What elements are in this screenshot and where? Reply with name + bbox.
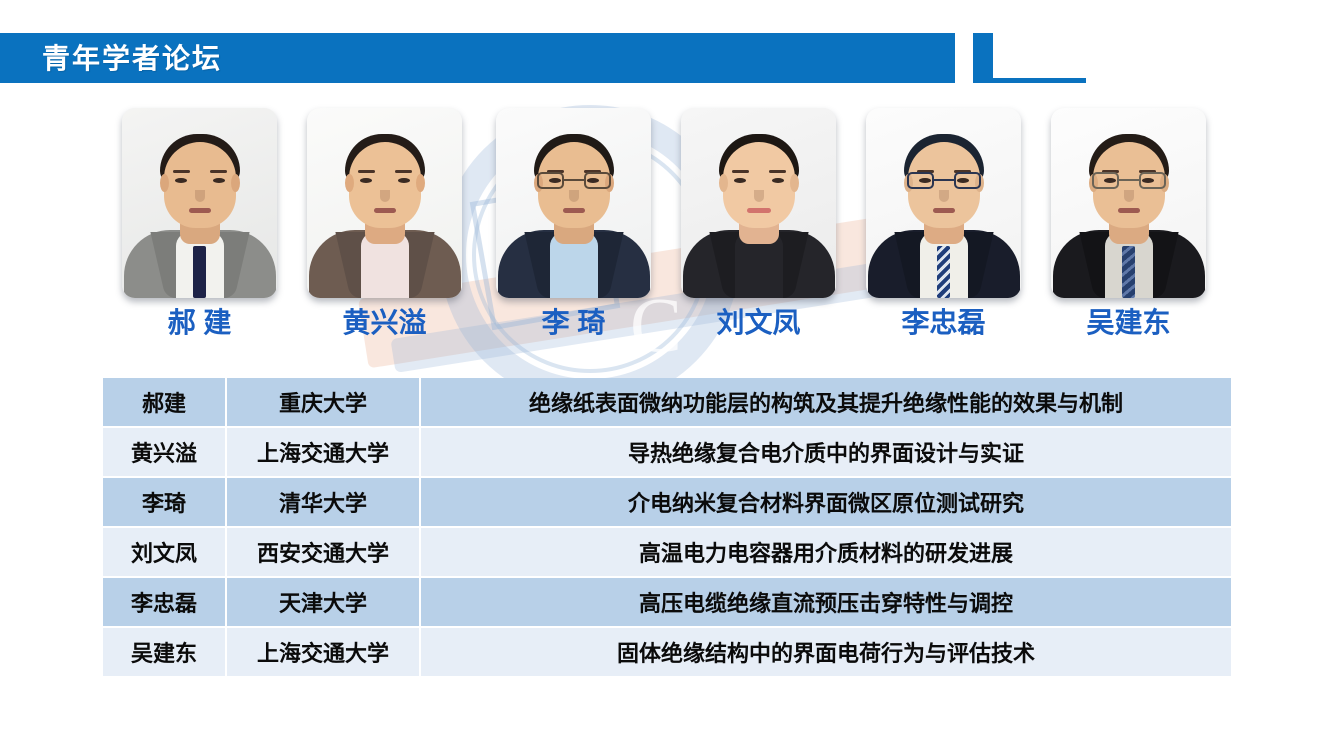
- glasses-icon: [536, 172, 612, 190]
- cell-speaker-name: 李琦: [103, 478, 225, 526]
- table-row[interactable]: 黄兴溢 上海交通大学 导热绝缘复合电介质中的界面设计与实证: [103, 428, 1231, 476]
- speaker-portrait-row: 郝 建 黄兴溢: [0, 108, 1344, 358]
- cell-talk-title: 高温电力电容器用介质材料的研发进展: [421, 528, 1231, 576]
- cell-speaker-name: 李忠磊: [103, 578, 225, 626]
- speaker-card-5[interactable]: 李忠磊: [866, 108, 1021, 340]
- speaker-photo-6: [1051, 108, 1206, 298]
- cell-talk-title: 固体绝缘结构中的界面电荷行为与评估技术: [421, 628, 1231, 676]
- speaker-photo-4: [681, 108, 836, 298]
- speaker-name-5: 李忠磊: [866, 306, 1021, 340]
- cell-speaker-name: 郝建: [103, 378, 225, 426]
- table-row[interactable]: 吴建东 上海交通大学 固体绝缘结构中的界面电荷行为与评估技术: [103, 628, 1231, 676]
- cell-talk-title: 介电纳米复合材料界面微区原位测试研究: [421, 478, 1231, 526]
- speaker-name-1: 郝 建: [122, 306, 277, 340]
- speaker-name-3: 李 琦: [496, 306, 651, 340]
- cell-organization: 上海交通大学: [227, 428, 419, 476]
- table-row[interactable]: 刘文凤 西安交通大学 高温电力电容器用介质材料的研发进展: [103, 528, 1231, 576]
- speaker-schedule-table: 郝建 重庆大学 绝缘纸表面微纳功能层的构筑及其提升绝缘性能的效果与机制 黄兴溢 …: [101, 376, 1233, 678]
- glasses-icon: [906, 172, 982, 190]
- speaker-photo-3: [496, 108, 651, 298]
- speaker-photo-1: [122, 108, 277, 298]
- cell-organization: 重庆大学: [227, 378, 419, 426]
- speaker-card-3[interactable]: 李 琦: [496, 108, 651, 340]
- cell-talk-title: 绝缘纸表面微纳功能层的构筑及其提升绝缘性能的效果与机制: [421, 378, 1231, 426]
- cell-organization: 天津大学: [227, 578, 419, 626]
- cell-speaker-name: 吴建东: [103, 628, 225, 676]
- speaker-name-6: 吴建东: [1051, 306, 1206, 340]
- cell-talk-title: 导热绝缘复合电介质中的界面设计与实证: [421, 428, 1231, 476]
- glasses-icon: [1091, 172, 1167, 190]
- cell-organization: 清华大学: [227, 478, 419, 526]
- header-accent-tick: [973, 33, 993, 83]
- speaker-card-2[interactable]: 黄兴溢: [307, 108, 462, 340]
- cell-organization: 西安交通大学: [227, 528, 419, 576]
- cell-speaker-name: 刘文凤: [103, 528, 225, 576]
- cell-speaker-name: 黄兴溢: [103, 428, 225, 476]
- speaker-name-4: 刘文凤: [681, 306, 836, 340]
- speaker-card-4[interactable]: 刘文凤: [681, 108, 836, 340]
- speaker-photo-2: [307, 108, 462, 298]
- table-row[interactable]: 李琦 清华大学 介电纳米复合材料界面微区原位测试研究: [103, 478, 1231, 526]
- table-row[interactable]: 郝建 重庆大学 绝缘纸表面微纳功能层的构筑及其提升绝缘性能的效果与机制: [103, 378, 1231, 426]
- cell-talk-title: 高压电缆绝缘直流预压击穿特性与调控: [421, 578, 1231, 626]
- page-title: 青年学者论坛: [42, 44, 222, 74]
- speaker-card-1[interactable]: 郝 建: [122, 108, 277, 340]
- speaker-name-2: 黄兴溢: [307, 306, 462, 340]
- cell-organization: 上海交通大学: [227, 628, 419, 676]
- speaker-card-6[interactable]: 吴建东: [1051, 108, 1206, 340]
- speaker-photo-5: [866, 108, 1021, 298]
- header-accent-rule: [973, 78, 1086, 83]
- table-row[interactable]: 李忠磊 天津大学 高压电缆绝缘直流预压击穿特性与调控: [103, 578, 1231, 626]
